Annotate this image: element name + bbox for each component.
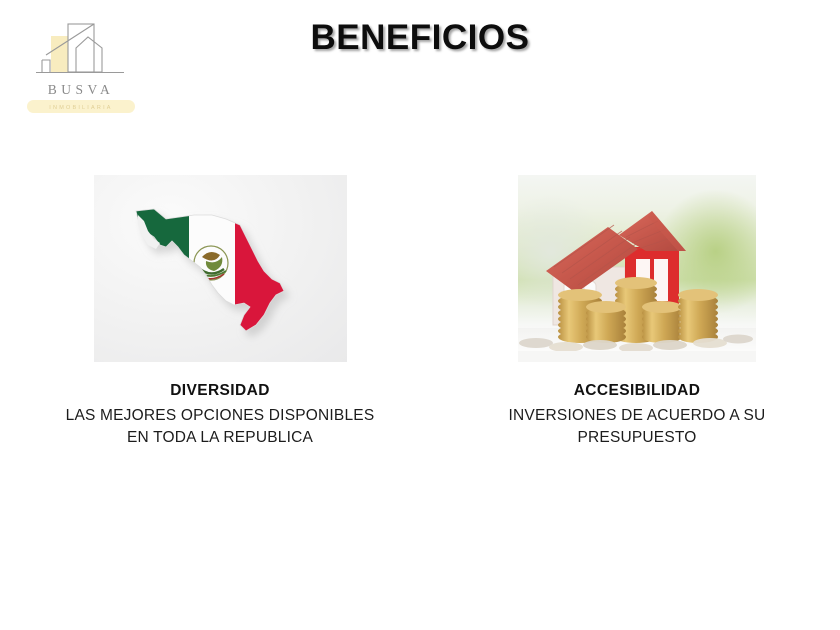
page-title: BENEFICIOS: [0, 18, 840, 58]
benefit-card-accesibilidad: ACCESIBILIDAD INVERSIONES DE ACUERDO A S…: [452, 175, 822, 450]
house-and-coins-photo: [518, 175, 756, 362]
benefit-heading-accesibilidad: ACCESIBILIDAD: [452, 382, 822, 400]
title-underline-rule: [182, 68, 660, 72]
logo-tagline: inmobiliaria: [49, 105, 112, 111]
benefit-body-accesibilidad: INVERSIONES DE ACUERDO A SU PRESUPUESTO: [452, 405, 822, 450]
benefit-body-diversidad: LAS MEJORES OPCIONES DISPONIBLES EN TODA…: [18, 405, 422, 450]
benefit-body-line-2: PRESUPUESTO: [452, 427, 822, 449]
benefit-body-line-2: EN TODA LA REPUBLICA: [18, 427, 422, 449]
mexico-flag-map-photo: [94, 175, 347, 362]
benefit-card-diversidad: DIVERSIDAD LAS MEJORES OPCIONES DISPONIB…: [18, 175, 422, 450]
benefit-heading-diversidad: DIVERSIDAD: [18, 382, 422, 400]
benefit-body-line-1: LAS MEJORES OPCIONES DISPONIBLES: [18, 405, 422, 427]
slide-canvas: BUSVA inmobiliaria BENEFICIOS: [0, 0, 840, 630]
logo-tagline-container: inmobiliaria: [22, 100, 140, 115]
benefit-body-line-1: INVERSIONES DE ACUERDO A SU: [452, 405, 822, 427]
logo-wordmark: BUSVA: [22, 82, 140, 98]
